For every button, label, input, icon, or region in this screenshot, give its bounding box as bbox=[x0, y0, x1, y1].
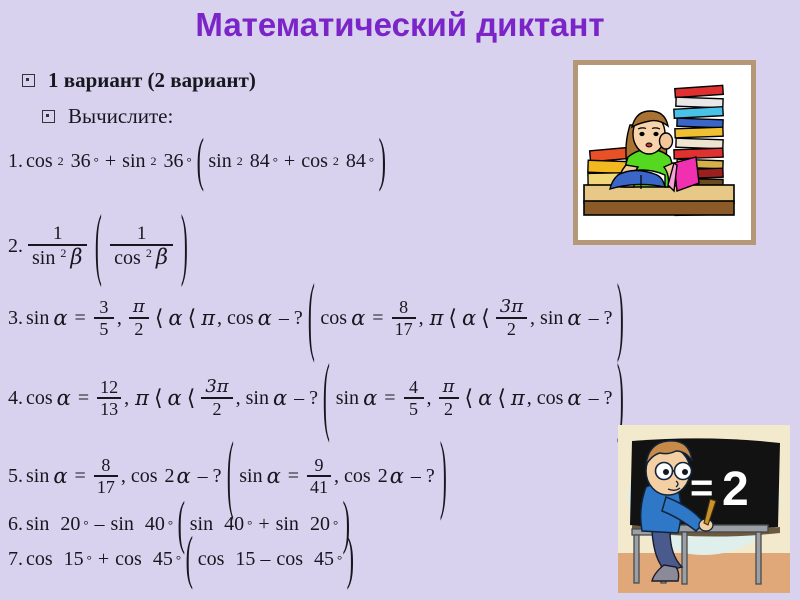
denominator: 41 bbox=[307, 478, 331, 496]
degree-icon: ° bbox=[87, 552, 92, 568]
problem-3: 3. sin α = 3 5 , π 2 ⟨ α ⟨ π , cos α – ?… bbox=[8, 298, 629, 338]
problem-5-var-two: 2 bbox=[378, 465, 388, 488]
left-paren: ( bbox=[178, 501, 185, 549]
problem-7-fn-cos2: cos bbox=[115, 548, 142, 571]
problem-7-plus: + bbox=[98, 548, 109, 571]
problem-3-alpha3: α bbox=[258, 306, 272, 330]
right-paren: ) bbox=[347, 536, 354, 584]
problem-3-var-pi: π bbox=[430, 306, 444, 330]
bullet-item-variant: 1 вариант (2 вариант) bbox=[22, 68, 256, 93]
problem-7-var-angle: 15 bbox=[235, 548, 255, 571]
problem-3-var-alpha2: α bbox=[462, 306, 476, 330]
page-title: Математический диктант bbox=[0, 6, 800, 44]
problem-7-angle: 15 bbox=[64, 548, 84, 571]
girl-reading-illustration bbox=[578, 65, 751, 240]
problem-1-var-angle2: 84 bbox=[346, 150, 366, 173]
denominator: 2 bbox=[131, 320, 146, 338]
problem-3-var-dash: – bbox=[589, 307, 599, 330]
problem-6-minus: – bbox=[95, 513, 105, 536]
problem-6-variant: ( sin 40° + sin 20° ) bbox=[174, 513, 354, 536]
problem-4-alpha3: α bbox=[273, 386, 287, 410]
problem-1-var-exp2: 2 bbox=[333, 154, 339, 169]
problem-5-equals: = bbox=[75, 465, 86, 488]
left-paren: ( bbox=[95, 214, 102, 278]
problem-4-var-fn-sin: sin bbox=[336, 387, 359, 410]
problem-3-var-equals: = bbox=[372, 307, 383, 330]
problem-5: 5. sin α = 8 17 , cos 2α – ? ( sin α = 9… bbox=[8, 456, 451, 496]
numerator: π bbox=[440, 378, 458, 396]
problem-2-fn-sin: sin bbox=[32, 247, 55, 269]
problem-6-var-fn-sin2: sin bbox=[276, 513, 299, 536]
problem-4-equals: = bbox=[78, 387, 89, 410]
problem-2-var-exp: 2 bbox=[146, 246, 152, 260]
numerator: 3π bbox=[202, 378, 231, 396]
problem-4-var-lt1: ⟨ bbox=[465, 386, 474, 411]
problem-4-var-lt2: ⟨ bbox=[497, 386, 506, 411]
problem-1-angle2: 36 bbox=[164, 150, 184, 173]
problem-1-variant: ( sin2 84° + cos2 84° ) bbox=[193, 150, 390, 173]
right-paren: ) bbox=[440, 441, 447, 512]
problem-1-fn-cos: cos bbox=[26, 150, 53, 173]
problem-4-pi: π bbox=[135, 386, 149, 410]
problem-5-var-question: ? bbox=[426, 465, 435, 488]
problem-4-fraction: 12 13 bbox=[97, 378, 121, 418]
numerator: 3 bbox=[96, 298, 111, 316]
degree-icon: ° bbox=[337, 552, 342, 568]
right-paren: ) bbox=[379, 138, 386, 186]
problem-3-fn-cos: cos bbox=[227, 307, 254, 330]
problem-7-angle2: 45 bbox=[153, 548, 173, 571]
problem-3-var-fn-cos: cos bbox=[320, 307, 347, 330]
problem-7-var-fn-cos2: cos bbox=[276, 548, 303, 571]
denominator: 17 bbox=[392, 320, 416, 338]
problem-3-alpha: α bbox=[53, 306, 67, 330]
problem-3-var-alpha3: α bbox=[567, 306, 581, 330]
image-boy-blackboard: 1 = 2 bbox=[618, 425, 790, 593]
problem-5-var-fraction: 9 41 bbox=[307, 456, 331, 496]
problem-1-exp: 2 bbox=[58, 154, 64, 169]
problem-5-var-fn-sin: sin bbox=[239, 465, 262, 488]
problem-2-variant: ( 1 cos2β ) bbox=[90, 224, 192, 269]
problem-3-var-lt1: ⟨ bbox=[448, 306, 457, 331]
problem-7-fn-cos: cos bbox=[26, 548, 53, 571]
problem-6-number: 6. bbox=[8, 513, 23, 536]
problem-5-var-equals: = bbox=[288, 465, 299, 488]
problem-4-question: ? bbox=[309, 387, 318, 410]
problem-3-lt2: ⟨ bbox=[188, 306, 197, 331]
problem-2-var-beta: β bbox=[156, 245, 168, 269]
problem-3-fn-sin: sin bbox=[26, 307, 49, 330]
problem-7-var-minus: – bbox=[260, 548, 270, 571]
degree-icon: ° bbox=[187, 154, 192, 170]
problem-4-fn-cos: cos bbox=[26, 387, 53, 410]
problem-4-fn-sin: sin bbox=[246, 387, 269, 410]
problem-4-alpha: α bbox=[57, 386, 71, 410]
problem-6-fn-sin2: sin bbox=[111, 513, 134, 536]
problem-1-var-fn-sin: sin bbox=[208, 150, 231, 173]
problem-3-number: 3. bbox=[8, 307, 23, 330]
right-paren: ) bbox=[181, 214, 188, 278]
right-paren: ) bbox=[617, 283, 624, 354]
problem-3-pi: π bbox=[201, 306, 215, 330]
problem-6-fn-sin: sin bbox=[26, 513, 49, 536]
problem-4-var-equals: = bbox=[384, 387, 395, 410]
problem-3-dash: – bbox=[279, 307, 289, 330]
problem-5-fraction: 8 17 bbox=[94, 456, 118, 496]
problem-3-fraction: 3 5 bbox=[94, 298, 114, 338]
problem-4-var-alpha3: α bbox=[567, 386, 581, 410]
problem-6-angle2: 40 bbox=[145, 513, 165, 536]
left-paren: ( bbox=[196, 138, 203, 186]
problem-2-beta: β bbox=[70, 245, 82, 269]
degree-icon: ° bbox=[94, 154, 99, 170]
problem-3-alpha2: α bbox=[168, 306, 182, 330]
problem-7-var-angle2: 45 bbox=[314, 548, 334, 571]
degree-icon: ° bbox=[369, 154, 374, 170]
problem-6-var-angle: 40 bbox=[224, 513, 244, 536]
problem-5-dash: – bbox=[198, 465, 208, 488]
problem-4-var-fn-cos: cos bbox=[537, 387, 564, 410]
problem-3-variant: ( cos α = 8 17 , π ⟨ α ⟨ 3π 2 , sin α – … bbox=[303, 298, 629, 338]
left-paren: ( bbox=[308, 283, 315, 354]
degree-icon: ° bbox=[176, 552, 181, 568]
bullet-item-compute: Вычислите: bbox=[42, 104, 173, 129]
numerator: 9 bbox=[312, 456, 327, 474]
numerator: 8 bbox=[98, 456, 113, 474]
problem-6-angle: 20 bbox=[60, 513, 80, 536]
problem-4-pi-fraction: 3π 2 bbox=[201, 378, 232, 418]
numerator: 1 bbox=[50, 224, 66, 243]
problem-1-var-plus: + bbox=[284, 150, 295, 173]
denominator: 5 bbox=[406, 400, 421, 418]
degree-icon: ° bbox=[247, 517, 252, 533]
problem-2-var-fraction: 1 cos2β bbox=[110, 224, 173, 269]
problem-4-lt1: ⟨ bbox=[154, 386, 163, 411]
problem-4-var-fraction: 4 5 bbox=[404, 378, 424, 418]
degree-icon: ° bbox=[333, 517, 338, 533]
left-paren: ( bbox=[323, 363, 330, 434]
left-paren: ( bbox=[226, 441, 233, 512]
problem-4-var-question: ? bbox=[604, 387, 613, 410]
problem-6: 6. sin 20° – sin 40° ( sin 40° + sin 20°… bbox=[8, 513, 354, 536]
problem-3-equals: = bbox=[75, 307, 86, 330]
problem-3-var-question: ? bbox=[604, 307, 613, 330]
girl-reading-svg bbox=[578, 65, 751, 240]
problem-1-plus: + bbox=[105, 150, 116, 173]
problem-7-number: 7. bbox=[8, 548, 23, 571]
image-girl-reading-books bbox=[573, 60, 756, 245]
problem-1-number: 1. bbox=[8, 150, 23, 173]
numerator: π bbox=[130, 298, 148, 316]
denominator: sin2β bbox=[28, 247, 87, 269]
problem-4-var-pi-fraction: π 2 bbox=[439, 378, 459, 418]
problem-4-var-alpha: α bbox=[363, 386, 377, 410]
problem-6-var-plus: + bbox=[258, 513, 269, 536]
problem-1-var-angle: 84 bbox=[250, 150, 270, 173]
problem-1-fn-sin: sin bbox=[122, 150, 145, 173]
denominator: 5 bbox=[96, 320, 111, 338]
problem-4: 4. cos α = 12 13 , π ⟨ α ⟨ 3π 2 , sin α … bbox=[8, 378, 629, 418]
problem-5-var-fn-cos: cos bbox=[344, 465, 371, 488]
problem-3-question: ? bbox=[294, 307, 303, 330]
problem-5-fn-cos: cos bbox=[131, 465, 158, 488]
problem-7: 7. cos 15° + cos 45° ( cos 15 – cos 45° … bbox=[8, 548, 358, 571]
bullet-square-icon bbox=[22, 74, 35, 87]
problem-3-pi-fraction: π 2 bbox=[129, 298, 149, 338]
bullet-item-compute-label: Вычислите: bbox=[68, 104, 173, 129]
numerator: 8 bbox=[396, 298, 411, 316]
problem-3-lt1: ⟨ bbox=[155, 306, 164, 331]
problem-4-lt2: ⟨ bbox=[187, 386, 196, 411]
problem-5-question: ? bbox=[213, 465, 222, 488]
problem-1-var-fn-cos: cos bbox=[301, 150, 328, 173]
problem-4-var-pi: π bbox=[511, 386, 525, 410]
denominator: 17 bbox=[94, 478, 118, 496]
problem-3-var-fraction: 8 17 bbox=[392, 298, 416, 338]
problem-7-variant: ( cos 15 – cos 45° ) bbox=[182, 548, 358, 571]
degree-icon: ° bbox=[83, 517, 88, 533]
problem-5-alpha2: α bbox=[176, 464, 190, 488]
denominator: 13 bbox=[97, 400, 121, 418]
problem-2-number: 2. bbox=[8, 235, 23, 258]
problem-1-angle: 36 bbox=[71, 150, 91, 173]
numerator: 12 bbox=[97, 378, 121, 396]
bullet-square-icon bbox=[42, 110, 55, 123]
right-paren: ) bbox=[617, 363, 624, 434]
denominator: 2 bbox=[209, 400, 224, 418]
denominator: 2 bbox=[504, 320, 519, 338]
problem-5-alpha: α bbox=[53, 464, 67, 488]
problem-5-number: 5. bbox=[8, 465, 23, 488]
problem-1-var-exp: 2 bbox=[237, 154, 243, 169]
problem-6-var-angle2: 20 bbox=[310, 513, 330, 536]
degree-icon: ° bbox=[168, 517, 173, 533]
problem-4-dash: – bbox=[294, 387, 304, 410]
problem-7-var-fn-cos: cos bbox=[198, 548, 225, 571]
problem-4-var-alpha2: α bbox=[478, 386, 492, 410]
problem-5-var-alpha2: α bbox=[390, 464, 404, 488]
problem-4-var-dash: – bbox=[589, 387, 599, 410]
numerator: 1 bbox=[134, 224, 150, 243]
problem-2-var-fn-cos: cos bbox=[114, 247, 141, 269]
problem-4-variant: ( sin α = 4 5 , π 2 ⟨ α ⟨ π , cos α – ? … bbox=[318, 378, 629, 418]
problem-5-two: 2 bbox=[164, 465, 174, 488]
problem-4-number: 4. bbox=[8, 387, 23, 410]
problem-4-alpha2: α bbox=[168, 386, 182, 410]
problem-5-fn-sin: sin bbox=[26, 465, 49, 488]
left-paren: ( bbox=[186, 536, 193, 584]
denominator: cos2β bbox=[110, 247, 173, 269]
problem-3-var-alpha: α bbox=[351, 306, 365, 330]
svg-text:2: 2 bbox=[722, 463, 749, 516]
problem-2-exp: 2 bbox=[60, 246, 66, 260]
boy-blackboard-svg: 1 = 2 bbox=[618, 425, 790, 593]
problem-1-exp2: 2 bbox=[151, 154, 157, 169]
numerator: 3π bbox=[497, 298, 526, 316]
problem-3-var-pi-fraction: 3π 2 bbox=[496, 298, 527, 338]
problem-2-fraction: 1 sin2β bbox=[28, 224, 87, 269]
problem-1: 1. cos2 36° + sin2 36° ( sin2 84° + cos2… bbox=[8, 150, 390, 173]
problem-3-var-lt2: ⟨ bbox=[481, 306, 490, 331]
problem-5-var-dash: – bbox=[411, 465, 421, 488]
problem-6-var-fn-sin: sin bbox=[190, 513, 213, 536]
problem-2: 2. 1 sin2β ( 1 cos2β ) bbox=[8, 224, 193, 269]
problem-5-variant: ( sin α = 9 41 , cos 2α – ? ) bbox=[222, 456, 452, 496]
numerator: 4 bbox=[406, 378, 421, 396]
problem-3-var-fn-sin: sin bbox=[540, 307, 563, 330]
denominator: 2 bbox=[441, 400, 456, 418]
problem-5-var-alpha: α bbox=[267, 464, 281, 488]
degree-icon: ° bbox=[273, 154, 278, 170]
bullet-item-variant-label: 1 вариант (2 вариант) bbox=[48, 68, 256, 93]
